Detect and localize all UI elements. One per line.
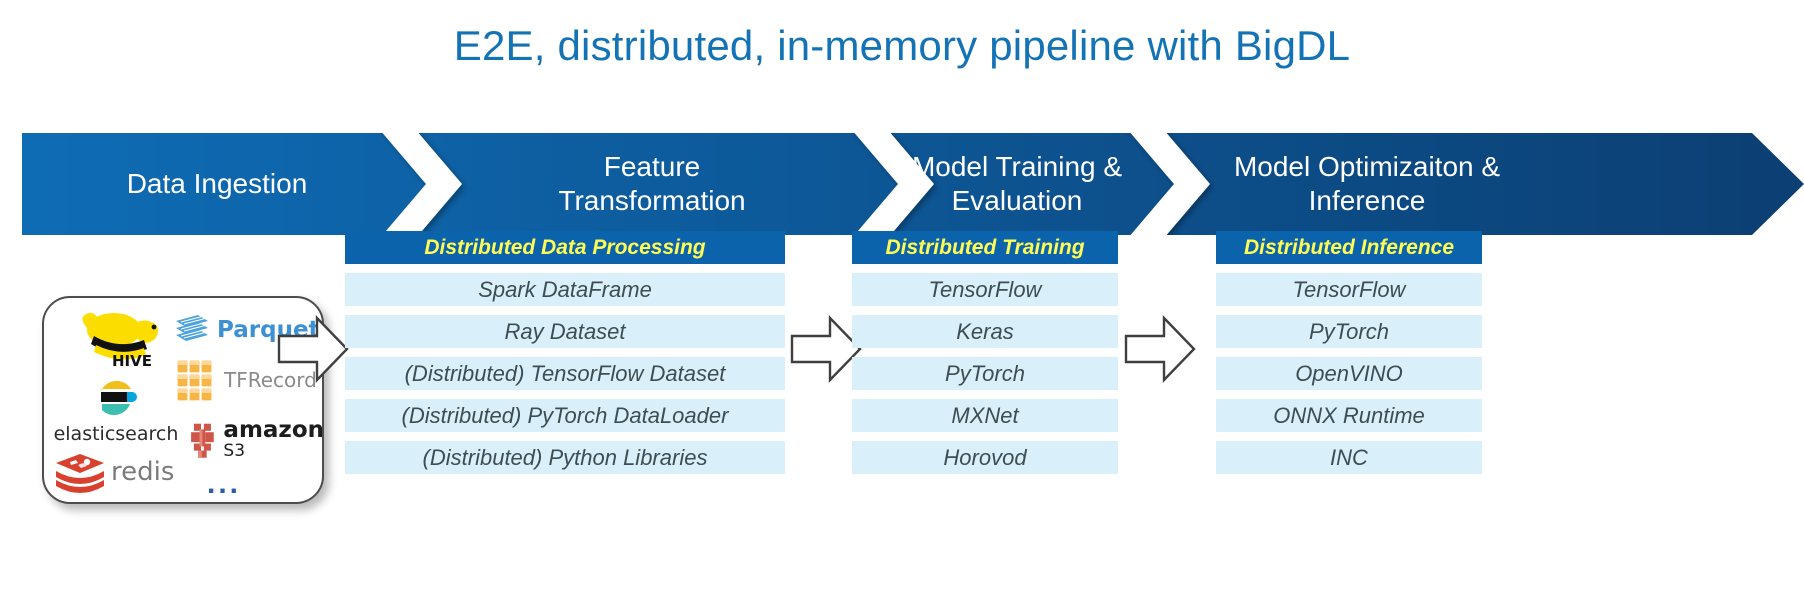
pipeline-banner: Data Ingestion Feature Transformation Mo… [22, 133, 1804, 235]
table-row: ONNX Runtime [1216, 399, 1482, 432]
sources-ellipsis: ... [207, 476, 241, 491]
table-distributed-data-processing: Distributed Data Processing Spark DataFr… [345, 231, 785, 474]
flow-arrow-3 [1124, 312, 1196, 386]
table-distributed-training: Distributed Training TensorFlow Keras Py… [852, 231, 1118, 474]
table-header: Distributed Training [852, 231, 1118, 264]
table-row: Spark DataFrame [345, 273, 785, 306]
table-row: (Distributed) PyTorch DataLoader [345, 399, 785, 432]
amazon-s3-logo: amazon S3 [184, 410, 324, 470]
stage-label-model-training: Model Training & Evaluation [902, 150, 1132, 218]
flow-arrow-1 [277, 312, 349, 386]
redis-label: redis [111, 457, 174, 487]
amazon-label: amazon [223, 419, 324, 442]
table-row: Ray Dataset [345, 315, 785, 348]
table-row: (Distributed) TensorFlow Dataset [345, 357, 785, 390]
parquet-icon [172, 313, 212, 347]
redis-icon [54, 450, 106, 494]
hive-icon: HIVE [74, 308, 170, 370]
elasticsearch-icon [94, 377, 138, 421]
table-row: Keras [852, 315, 1118, 348]
amazon-s3-icon [184, 411, 219, 469]
amazon-s3-sublabel: S3 [223, 442, 324, 461]
table-row: TensorFlow [1216, 273, 1482, 306]
svg-text:HIVE: HIVE [112, 352, 152, 370]
table-row: PyTorch [1216, 315, 1482, 348]
stage-label-model-optimization: Model Optimizaiton & Inference [1202, 150, 1532, 218]
redis-logo: redis [54, 448, 190, 496]
page-title: E2E, distributed, in-memory pipeline wit… [0, 22, 1804, 70]
table-row: PyTorch [852, 357, 1118, 390]
stage-label-data-ingestion: Data Ingestion [52, 167, 382, 201]
table-row: TensorFlow [852, 273, 1118, 306]
table-row: INC [1216, 441, 1482, 474]
tfrecord-icon [172, 355, 220, 405]
hive-logo: HIVE [62, 308, 182, 370]
table-row: (Distributed) Python Libraries [345, 441, 785, 474]
elasticsearch-label: elasticsearch [54, 423, 179, 445]
diagram-canvas: E2E, distributed, in-memory pipeline wit… [0, 0, 1804, 601]
stage-label-feature-transformation: Feature Transformation [452, 150, 852, 218]
table-row: MXNet [852, 399, 1118, 432]
table-row: OpenVINO [1216, 357, 1482, 390]
elasticsearch-logo: elasticsearch [50, 372, 182, 450]
table-header: Distributed Inference [1216, 231, 1482, 264]
table-distributed-inference: Distributed Inference TensorFlow PyTorch… [1216, 231, 1482, 474]
table-header: Distributed Data Processing [345, 231, 785, 264]
table-row: Horovod [852, 441, 1118, 474]
